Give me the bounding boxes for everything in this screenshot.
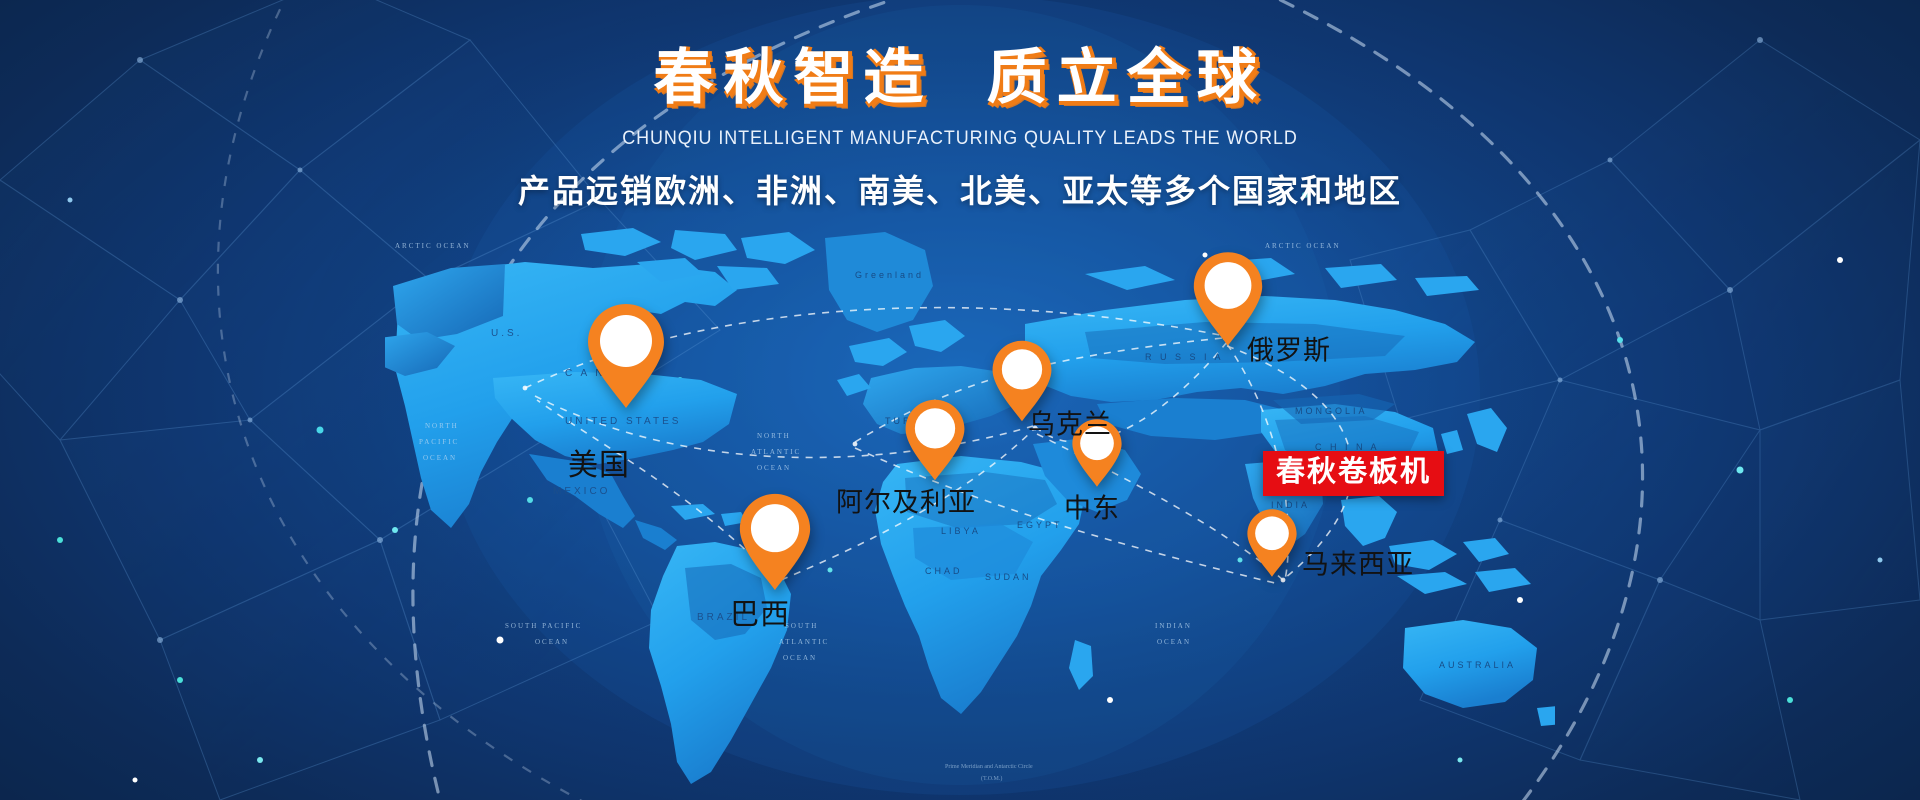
svg-text:NORTH: NORTH xyxy=(757,432,791,440)
svg-text:LIBYA: LIBYA xyxy=(941,526,981,536)
map-pin-label-malaysia: 马来西亚 xyxy=(1302,543,1414,582)
map-pin-usa[interactable] xyxy=(586,302,666,410)
svg-text:SOUTH PACIFIC: SOUTH PACIFIC xyxy=(505,622,582,630)
map-pin-label-algeria: 阿尔及利亚 xyxy=(836,481,976,520)
svg-text:AUSTRALIA: AUSTRALIA xyxy=(1439,660,1516,670)
map-pin-label-russia: 俄罗斯 xyxy=(1247,329,1331,368)
map-pin-label-brazil: 巴西 xyxy=(730,591,790,633)
svg-text:SUDAN: SUDAN xyxy=(985,572,1032,582)
svg-text:Greenland: Greenland xyxy=(855,270,924,280)
svg-text:OCEAN: OCEAN xyxy=(535,638,569,646)
svg-text:Prime Meridian and Antarctic C: Prime Meridian and Antarctic Circle xyxy=(945,764,1033,770)
location-pin-icon xyxy=(586,302,666,410)
headline-block: 春秋智造 质立全球 CHUNQIU INTELLIGENT MANUFACTUR… xyxy=(0,46,1920,212)
svg-text:UNITED STATES: UNITED STATES xyxy=(565,416,681,427)
banner-stage: 春秋智造 质立全球 CHUNQIU INTELLIGENT MANUFACTUR… xyxy=(0,0,1920,800)
map-pin-malaysia[interactable] xyxy=(1246,508,1298,578)
svg-text:MEXICO: MEXICO xyxy=(553,486,610,497)
product-badge[interactable]: 春秋卷板机 xyxy=(1263,451,1444,496)
svg-text:OCEAN: OCEAN xyxy=(783,654,817,662)
svg-text:PACIFIC: PACIFIC xyxy=(419,438,459,446)
svg-text:R U S S I A: R U S S I A xyxy=(1145,352,1224,362)
location-pin-icon xyxy=(738,492,812,592)
svg-text:ARCTIC OCEAN: ARCTIC OCEAN xyxy=(395,242,471,250)
map-pin-label-ukraine: 乌克兰 xyxy=(1028,403,1112,442)
svg-text:EGYPT: EGYPT xyxy=(1017,520,1063,530)
subtitle-english: CHUNQIU INTELLIGENT MANUFACTURING QUALIT… xyxy=(77,127,1843,150)
subtitle-chinese: 产品远销欧洲、非洲、南美、北美、亚太等多个国家和地区 xyxy=(0,166,1920,212)
map-pin-label-middle-east: 中东 xyxy=(1064,487,1120,526)
svg-text:OCEAN: OCEAN xyxy=(423,454,457,462)
map-pin-label-usa: 美国 xyxy=(568,440,630,484)
svg-text:OCEAN: OCEAN xyxy=(757,464,791,472)
map-pin-algeria[interactable] xyxy=(904,398,966,482)
map-pin-brazil[interactable] xyxy=(738,492,812,592)
svg-text:CHAD: CHAD xyxy=(925,566,963,576)
svg-text:ATLANTIC: ATLANTIC xyxy=(779,638,829,646)
location-pin-icon xyxy=(1246,508,1298,578)
svg-text:ARCTIC OCEAN: ARCTIC OCEAN xyxy=(1265,242,1341,250)
svg-text:OCEAN: OCEAN xyxy=(1157,638,1191,646)
page-title: 春秋智造 质立全球 xyxy=(0,46,1920,111)
svg-text:U.S.: U.S. xyxy=(491,328,522,339)
svg-text:INDIAN: INDIAN xyxy=(1155,622,1192,630)
svg-text:MONGOLIA: MONGOLIA xyxy=(1295,406,1368,416)
location-pin-icon xyxy=(904,398,966,482)
svg-text:(T.O.M.): (T.O.M.) xyxy=(981,775,1002,782)
svg-text:NORTH: NORTH xyxy=(425,422,459,430)
svg-text:ATLANTIC: ATLANTIC xyxy=(751,448,801,456)
